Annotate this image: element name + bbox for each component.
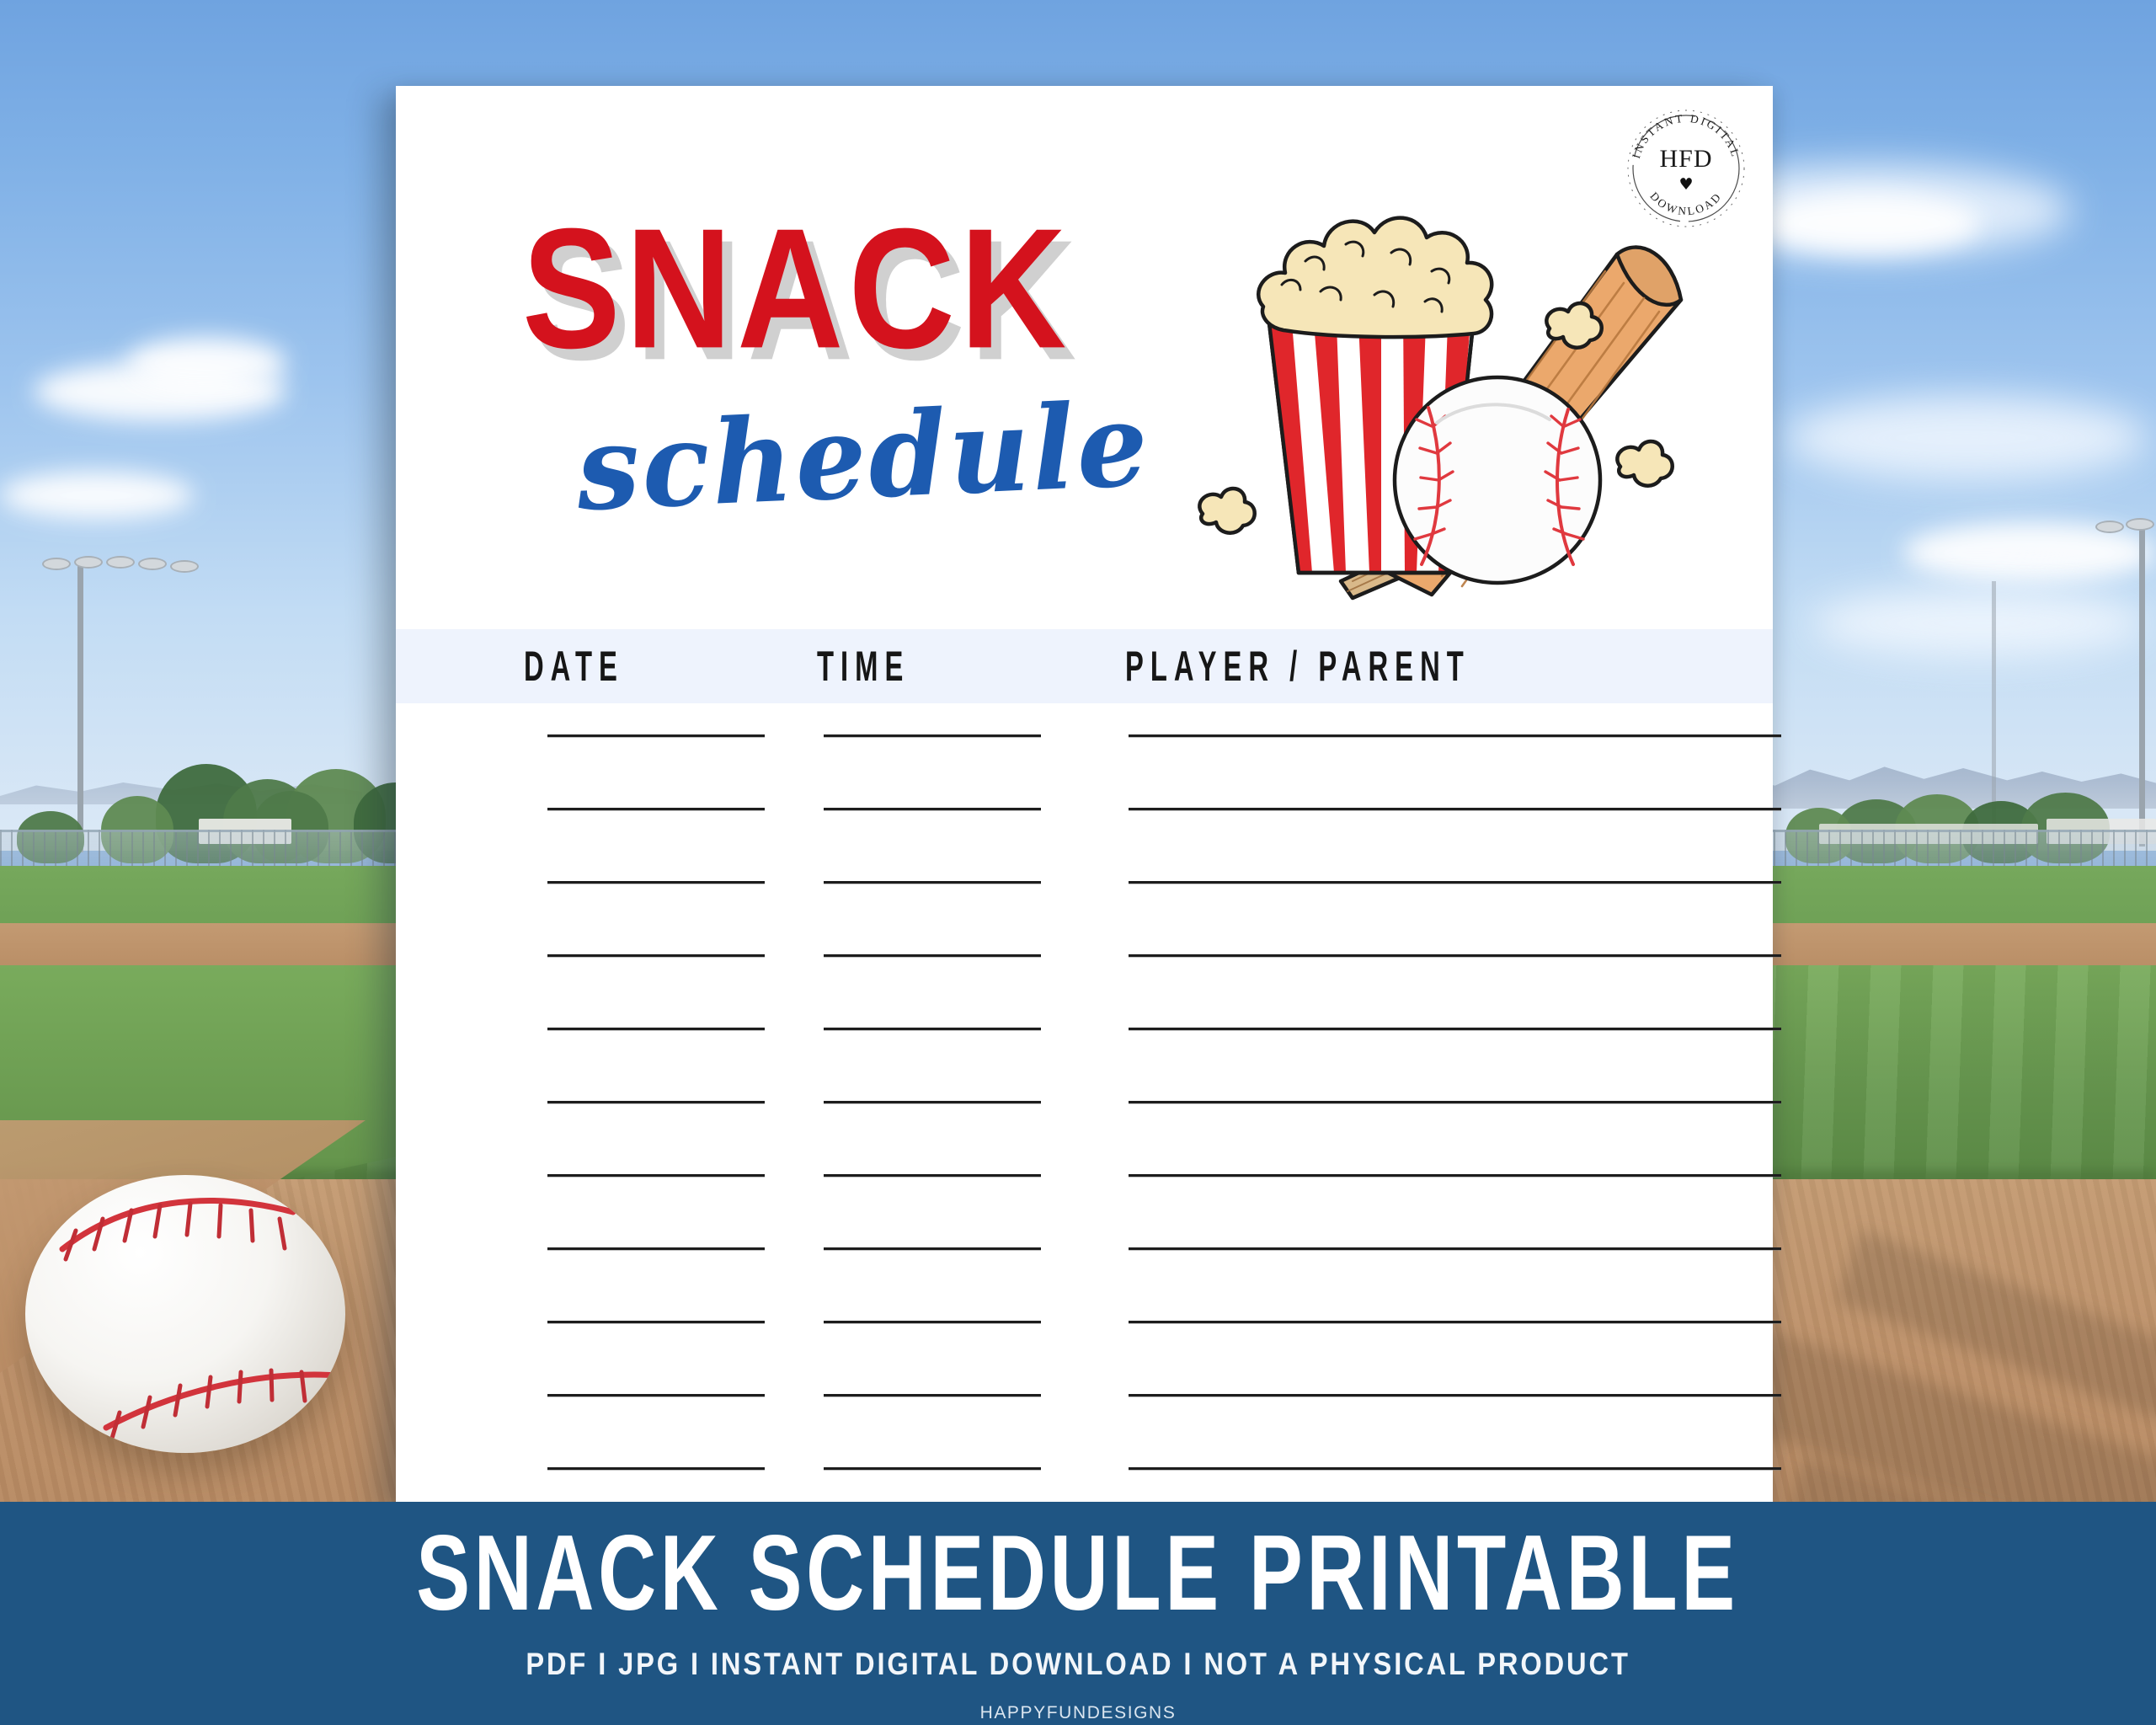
write-line-pp[interactable] <box>1129 954 1781 957</box>
column-header-time: TIME <box>817 642 910 690</box>
baseball-icon <box>1395 377 1600 583</box>
pole-lamp <box>106 556 135 569</box>
write-line-date[interactable] <box>547 1028 765 1030</box>
pole-lamp <box>2126 518 2154 531</box>
foreground-baseball <box>25 1175 345 1453</box>
write-line-pp[interactable] <box>1129 1394 1781 1397</box>
write-line-pp[interactable] <box>1129 1321 1781 1323</box>
write-line-time[interactable] <box>824 1247 1041 1250</box>
pole-lamp <box>138 558 167 570</box>
schedule-row <box>396 1028 1773 1101</box>
cloud <box>126 337 286 389</box>
write-line-time[interactable] <box>824 954 1041 957</box>
write-line-pp[interactable] <box>1129 1174 1781 1177</box>
page-title-snack: SNACK <box>522 211 1071 368</box>
banner-subtitle: PDF I JPG I INSTANT DIGITAL DOWNLOAD I N… <box>526 1647 1630 1682</box>
schedule-row <box>396 954 1773 1028</box>
write-line-pp[interactable] <box>1129 1247 1781 1250</box>
write-line-date[interactable] <box>547 734 765 737</box>
bottom-banner: SNACK SCHEDULE PRINTABLE PDF I JPG I INS… <box>0 1502 2156 1725</box>
write-line-time[interactable] <box>824 808 1041 810</box>
write-line-time[interactable] <box>824 734 1041 737</box>
write-line-date[interactable] <box>547 1174 765 1177</box>
schedule-row <box>396 1394 1773 1467</box>
write-line-time[interactable] <box>824 1101 1041 1103</box>
write-line-date[interactable] <box>547 1247 765 1250</box>
printable-page: INSTANT DIGITAL DOWNLOAD HFD ♥ SNACK sch… <box>396 86 1773 1505</box>
column-header-player-parent: PLAYER / PARENT <box>1125 642 1470 690</box>
write-line-pp[interactable] <box>1129 881 1781 884</box>
table-header-row: DATE TIME PLAYER / PARENT <box>396 629 1773 703</box>
schedule-row <box>396 1101 1773 1174</box>
write-line-time[interactable] <box>824 1321 1041 1323</box>
write-line-date[interactable] <box>547 1321 765 1323</box>
popcorn-mound-icon <box>1258 218 1492 338</box>
write-line-time[interactable] <box>824 881 1041 884</box>
write-line-date[interactable] <box>547 1394 765 1397</box>
pole-lamp <box>74 556 103 569</box>
write-line-time[interactable] <box>824 1467 1041 1470</box>
schedule-row <box>396 808 1773 881</box>
schedule-row <box>396 734 1773 808</box>
write-line-pp[interactable] <box>1129 1101 1781 1103</box>
cloud <box>1811 590 2148 657</box>
schedule-rows <box>396 734 1773 1541</box>
cloud <box>0 472 194 519</box>
cloud <box>1760 194 1979 253</box>
write-line-pp[interactable] <box>1129 1467 1781 1470</box>
write-line-pp[interactable] <box>1129 808 1781 810</box>
schedule-row <box>396 1321 1773 1394</box>
page-title-schedule: schedule <box>574 387 1152 528</box>
pole-lamp <box>170 560 199 573</box>
write-line-pp[interactable] <box>1129 1028 1781 1030</box>
write-line-pp[interactable] <box>1129 734 1781 737</box>
schedule-row <box>396 1247 1773 1321</box>
banner-brand: HAPPYFUNDESIGNS <box>980 1703 1177 1723</box>
write-line-date[interactable] <box>547 881 765 884</box>
screenshot-stage: INSTANT DIGITAL DOWNLOAD HFD ♥ SNACK sch… <box>0 0 2156 1725</box>
pole-lamp <box>2095 521 2124 533</box>
schedule-row <box>396 881 1773 954</box>
write-line-date[interactable] <box>547 954 765 957</box>
banner-title: SNACK SCHEDULE PRINTABLE <box>417 1520 1739 1627</box>
write-line-date[interactable] <box>547 1101 765 1103</box>
schedule-row <box>396 1174 1773 1247</box>
pole-lamp <box>42 558 71 570</box>
write-line-time[interactable] <box>824 1394 1041 1397</box>
write-line-date[interactable] <box>547 1467 765 1470</box>
popcorn-bat-baseball-illustration <box>1179 126 1718 623</box>
column-header-date: DATE <box>524 642 624 690</box>
write-line-time[interactable] <box>824 1174 1041 1177</box>
write-line-time[interactable] <box>824 1028 1041 1030</box>
write-line-date[interactable] <box>547 808 765 810</box>
title-block: SNACK schedule <box>396 86 1246 532</box>
cloud <box>1785 396 2148 480</box>
